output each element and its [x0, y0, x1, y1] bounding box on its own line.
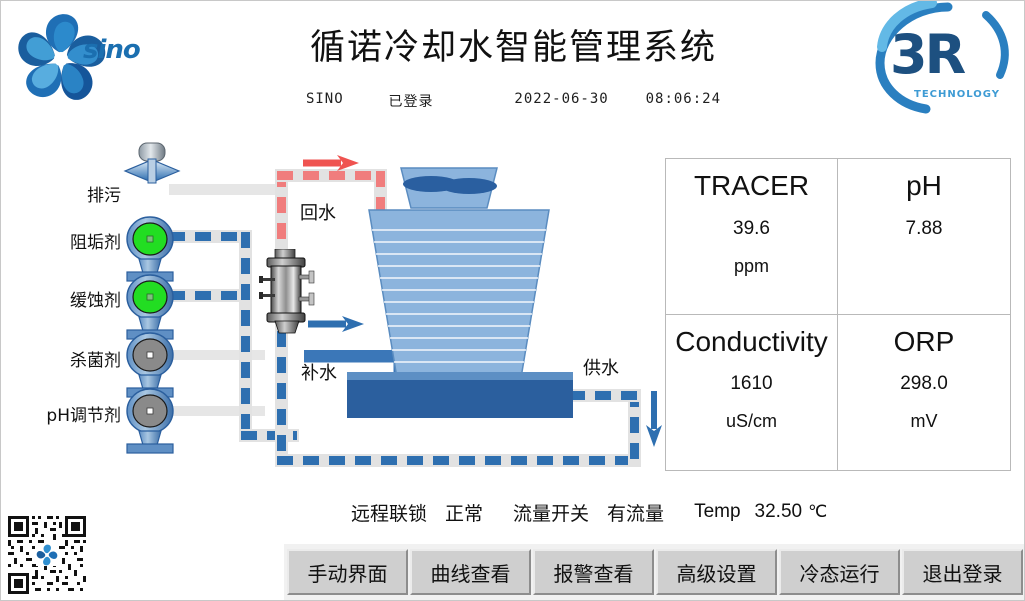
temperature-label: Temp	[694, 501, 740, 523]
header-bar: sino 循诺冷却水智能管理系统 SINO 已登录 2022-06-30 08:…	[1, 1, 1025, 119]
equipment-label-biocide: 杀菌剂	[11, 346, 121, 371]
cold-standby-button[interactable]: 冷态运行	[779, 549, 900, 595]
pipe-dosing-riser	[241, 232, 250, 438]
water-analyzer-vessel	[259, 249, 315, 335]
cooling-tower	[339, 166, 579, 421]
label-makeup-water: 补水	[301, 359, 337, 385]
bottom-button-bar: 手动界面 曲线查看 报警查看 高级设置 冷态运行 退出登录	[284, 544, 1025, 601]
measurement-value: 1610	[730, 373, 772, 395]
supply-down-arrow-icon	[643, 391, 665, 447]
current-date: 2022-06-30	[514, 91, 608, 107]
equipment-label-ph-adjuster: pH调节剂	[1, 401, 121, 426]
pipe-dosing-foot	[241, 431, 297, 440]
temperature-value: 32.50	[755, 501, 803, 523]
measurement-name: Conductivity	[675, 327, 828, 358]
trend-curve-button[interactable]: 曲线查看	[410, 549, 531, 595]
pipe-blowdown	[169, 184, 285, 195]
logout-button[interactable]: 退出登录	[902, 549, 1023, 595]
remote-interlock-label: 远程联锁	[351, 499, 427, 526]
login-status: 已登录	[389, 91, 434, 111]
measurement-unit: ppm	[734, 256, 769, 277]
manual-interface-button[interactable]: 手动界面	[287, 549, 408, 595]
measurement-name: pH	[906, 171, 942, 202]
remote-interlock-value: 正常	[445, 499, 483, 526]
pipe-loop-bottom	[277, 456, 639, 465]
measurement-cell-tracer: TRACER 39.6 ppm	[666, 159, 838, 315]
3r-technology-logo: 3R TECHNOLOGY	[870, 1, 1020, 117]
status-row: 远程联锁 正常 流量开关 有流量 Temp 32.50 ℃	[351, 497, 1011, 527]
session-user: SINO	[306, 91, 344, 107]
advanced-settings-button[interactable]: 高级设置	[656, 549, 777, 595]
measurement-cell-conductivity: Conductivity 1610 uS/cm	[666, 315, 838, 471]
label-supply-water: 供水	[583, 354, 619, 380]
current-time: 08:06:24	[646, 91, 721, 107]
measurements-panel: TRACER 39.6 ppm pH 7.88 Conductivity 161…	[665, 158, 1011, 471]
measurement-name: TRACER	[694, 171, 809, 202]
3r-logo-subtitle: TECHNOLOGY	[914, 89, 1000, 100]
pump-ph-adjuster[interactable]	[119, 387, 181, 455]
temperature-unit: ℃	[808, 502, 827, 522]
measurement-unit: mV	[911, 411, 938, 432]
cooling-water-management-screen: sino 循诺冷却水智能管理系统 SINO 已登录 2022-06-30 08:…	[0, 0, 1025, 601]
measurement-value: 7.88	[906, 218, 943, 240]
pipe-supply-top	[569, 391, 639, 400]
measurement-name: ORP	[894, 327, 955, 358]
flow-switch-value: 有流量	[607, 499, 664, 526]
equipment-label-corrosion-inhibitor: 缓蚀剂	[11, 286, 121, 311]
blowdown-valve-icon[interactable]	[121, 141, 183, 199]
measurement-cell-ph: pH 7.88	[838, 159, 1010, 315]
measurement-cell-orp: ORP 298.0 mV	[838, 315, 1010, 471]
equipment-label-blowdown: 排污	[11, 181, 121, 206]
measurement-unit: uS/cm	[726, 411, 777, 432]
flow-switch-label: 流量开关	[513, 499, 589, 526]
pipe-loop-right	[630, 391, 639, 465]
label-return-water: 回水	[300, 199, 336, 225]
alarm-view-button[interactable]: 报警查看	[533, 549, 654, 595]
qr-code[interactable]	[5, 513, 89, 597]
measurement-value: 298.0	[900, 373, 948, 395]
3r-logo-text: 3R	[890, 23, 963, 86]
measurement-value: 39.6	[733, 218, 770, 240]
equipment-label-antiscalant: 阻垢剂	[11, 228, 121, 253]
